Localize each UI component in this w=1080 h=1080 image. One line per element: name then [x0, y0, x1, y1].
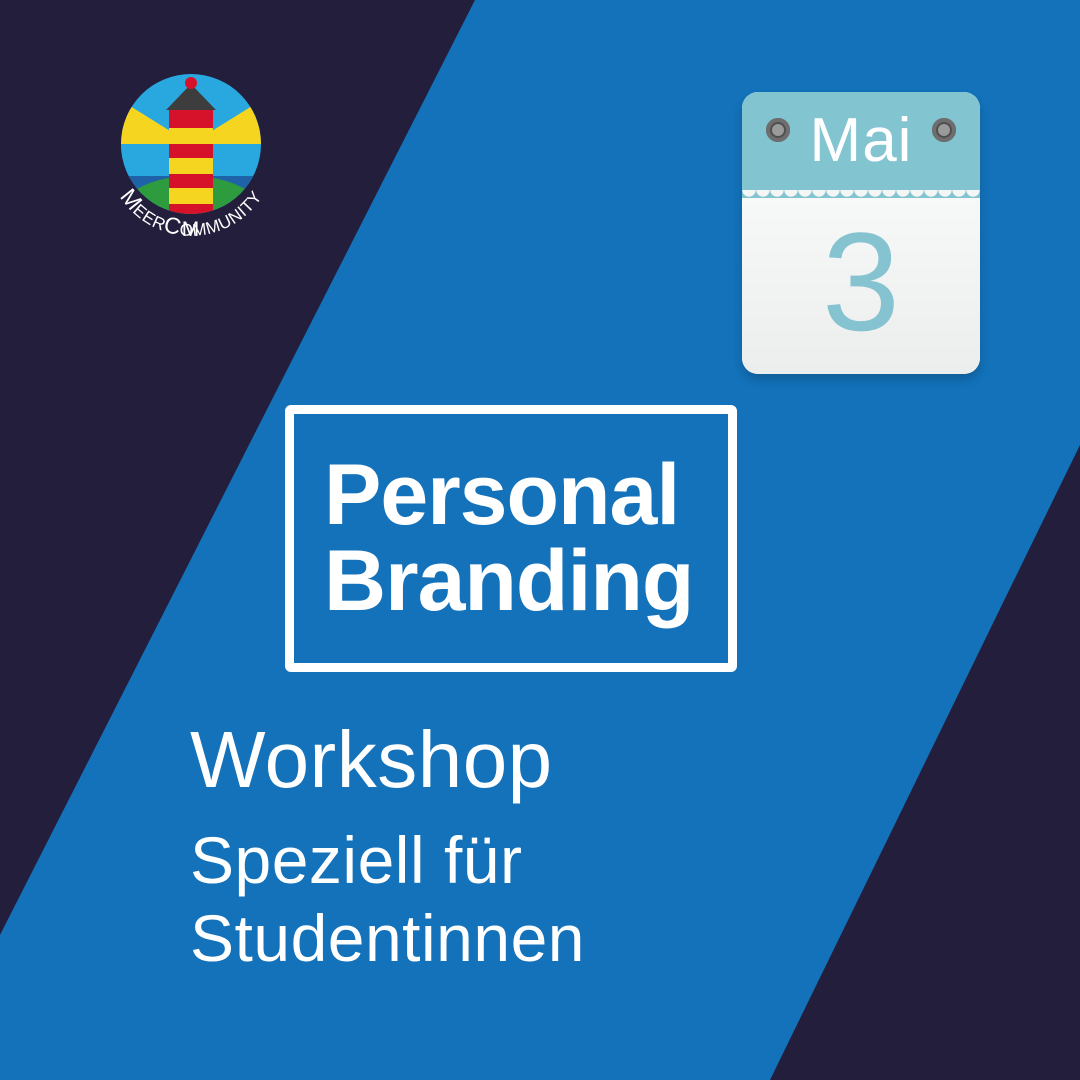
poster-canvas: M MEERCOMMUNITY Mai 3 Personal Branding …	[0, 0, 1080, 1080]
title-line-1: Personal	[324, 453, 728, 538]
subtitle-line-2: Studentinnen	[190, 900, 810, 978]
calendar-month-label: Mai	[810, 110, 913, 172]
calendar-body: 3	[742, 198, 980, 374]
meercommunity-logo: M MEERCOMMUNITY	[96, 66, 286, 256]
calendar-date-icon: Mai 3	[742, 92, 980, 374]
title-box: Personal Branding	[285, 405, 737, 672]
calendar-day-number: 3	[822, 212, 900, 352]
subtitle-line-1: Speziell für	[190, 822, 810, 900]
subtitle-heading: Workshop	[190, 720, 810, 800]
calendar-ring-hole-right	[932, 118, 956, 142]
calendar-ring-hole-left	[766, 118, 790, 142]
subtitle-block: Workshop Speziell für Studentinnen	[190, 720, 810, 978]
calendar-header: Mai	[742, 92, 980, 198]
title-line-2: Branding	[324, 539, 728, 624]
